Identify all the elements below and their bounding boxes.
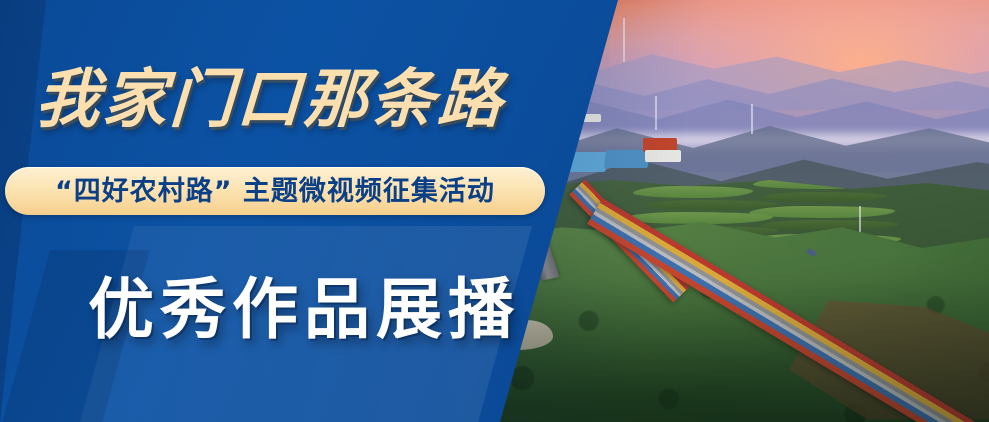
banner-subtitle: 优秀作品展播	[88, 256, 520, 352]
campaign-pill: “四好农村路” 主题微视频征集活动	[5, 167, 545, 215]
banner-content: 我家门口那条路 “四好农村路” 主题微视频征集活动 优秀作品展播	[0, 0, 989, 422]
banner-main-title: 我家门口那条路	[34, 48, 559, 140]
promo-banner: 我家门口那条路 “四好农村路” 主题微视频征集活动 优秀作品展播	[0, 0, 989, 422]
campaign-pill-label: “四好农村路” 主题微视频征集活动	[55, 178, 495, 205]
